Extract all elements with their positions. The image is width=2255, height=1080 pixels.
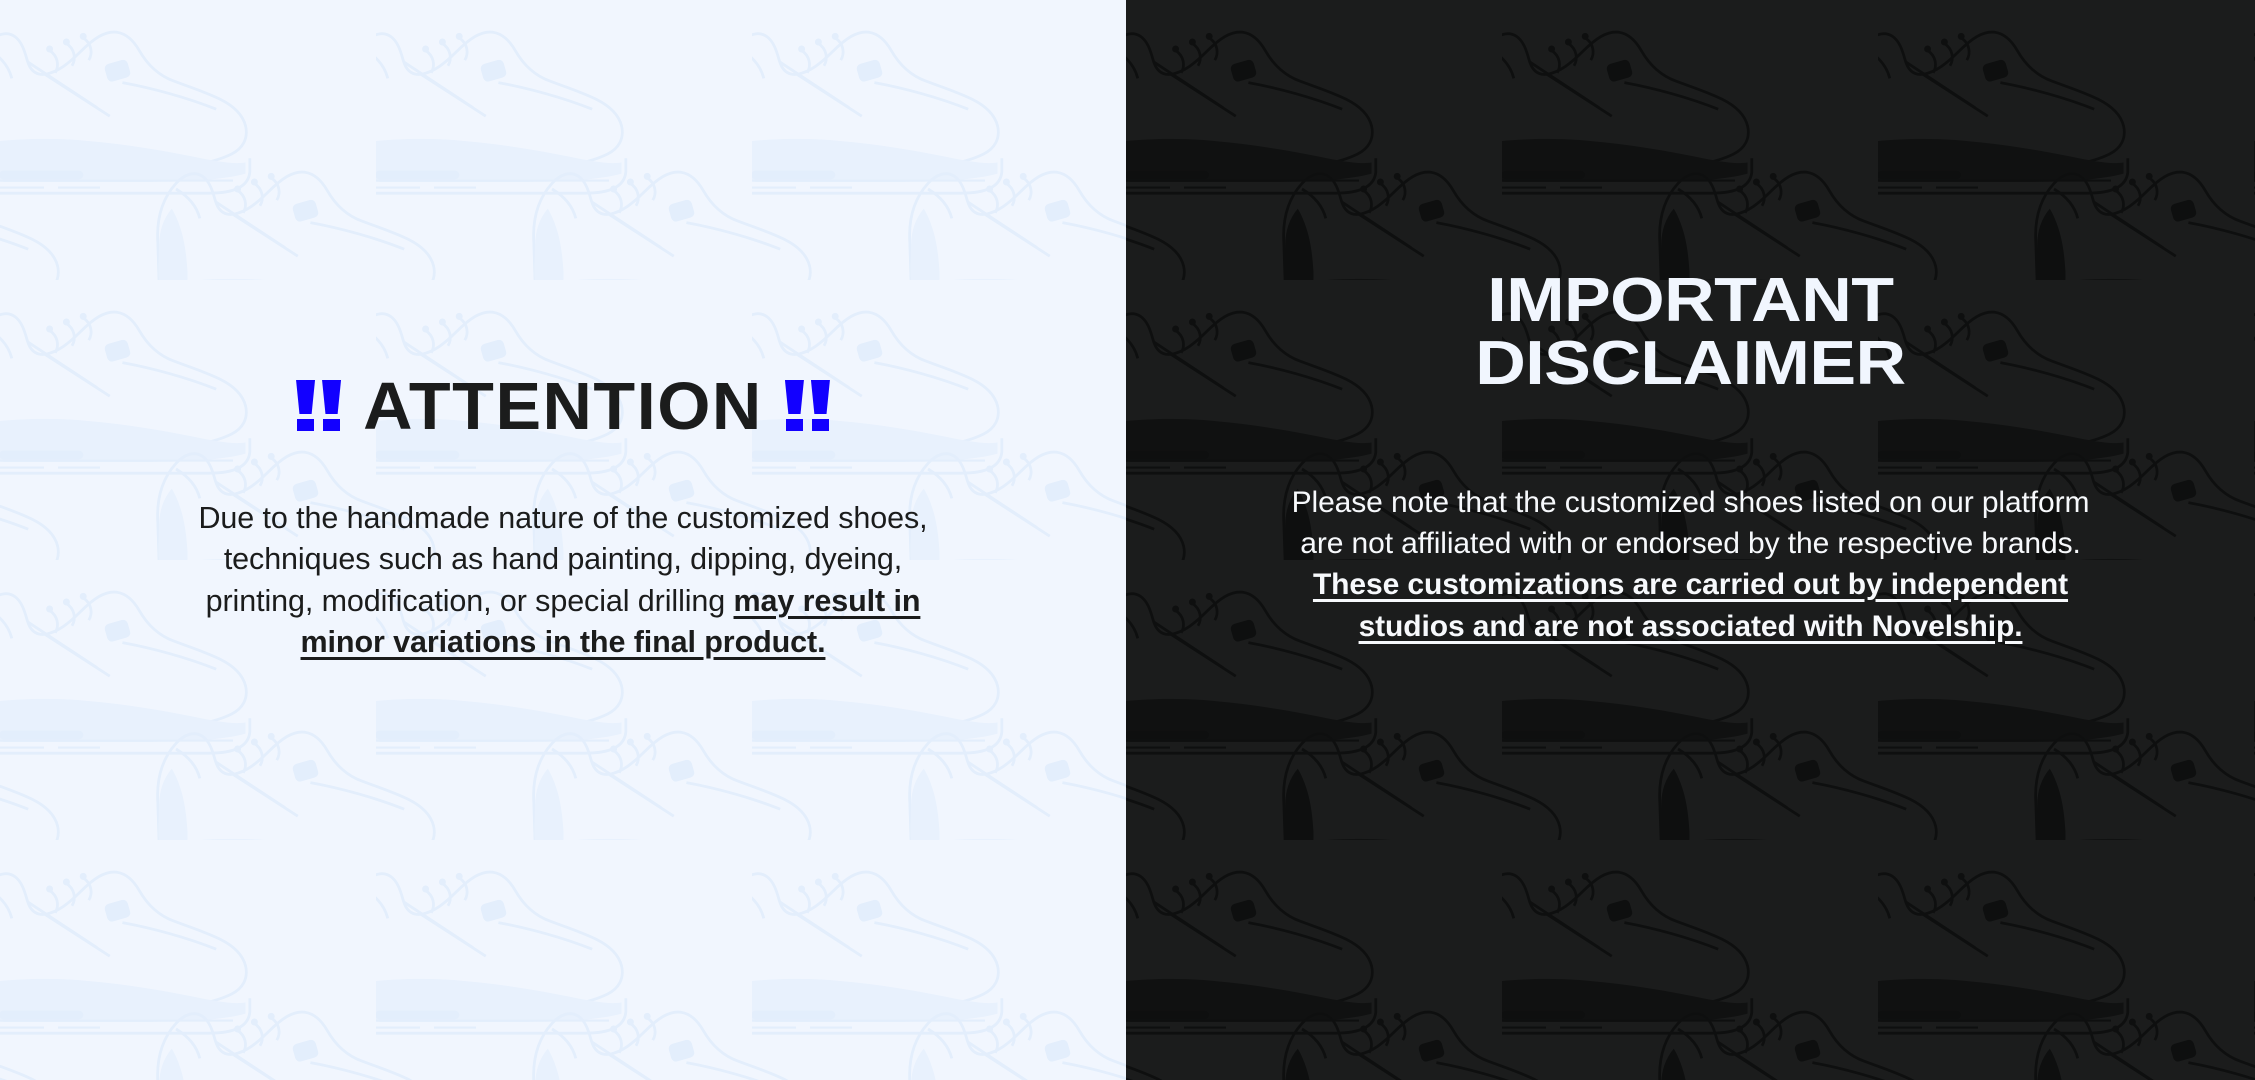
disclaimer-heading: IMPORTANT DISCLAIMER <box>1475 269 1905 395</box>
attention-heading: ATTENTION <box>296 373 830 440</box>
disclaimer-panel: IMPORTANT DISCLAIMER Please note that th… <box>1126 0 2255 1080</box>
attention-panel: ATTENTION Due to the handmade nature of … <box>0 0 1126 1080</box>
disclaimer-heading-line1: IMPORTANT <box>1487 266 1893 335</box>
attention-heading-text: ATTENTION <box>363 373 763 440</box>
disclaimer-body-emphasis: These customizations are carried out by … <box>1313 568 2068 642</box>
double-exclamation-icon-right <box>785 380 830 434</box>
attention-body: Due to the handmade nature of the custom… <box>183 498 943 664</box>
promo-banner: ATTENTION Due to the handmade nature of … <box>0 0 2255 1080</box>
disclaimer-heading-line2: DISCLAIMER <box>1475 332 1905 395</box>
disclaimer-body: Please note that the customized shoes li… <box>1281 482 2101 648</box>
double-exclamation-icon-left <box>296 380 341 434</box>
disclaimer-body-normal: Please note that the customized shoes li… <box>1292 486 2090 560</box>
